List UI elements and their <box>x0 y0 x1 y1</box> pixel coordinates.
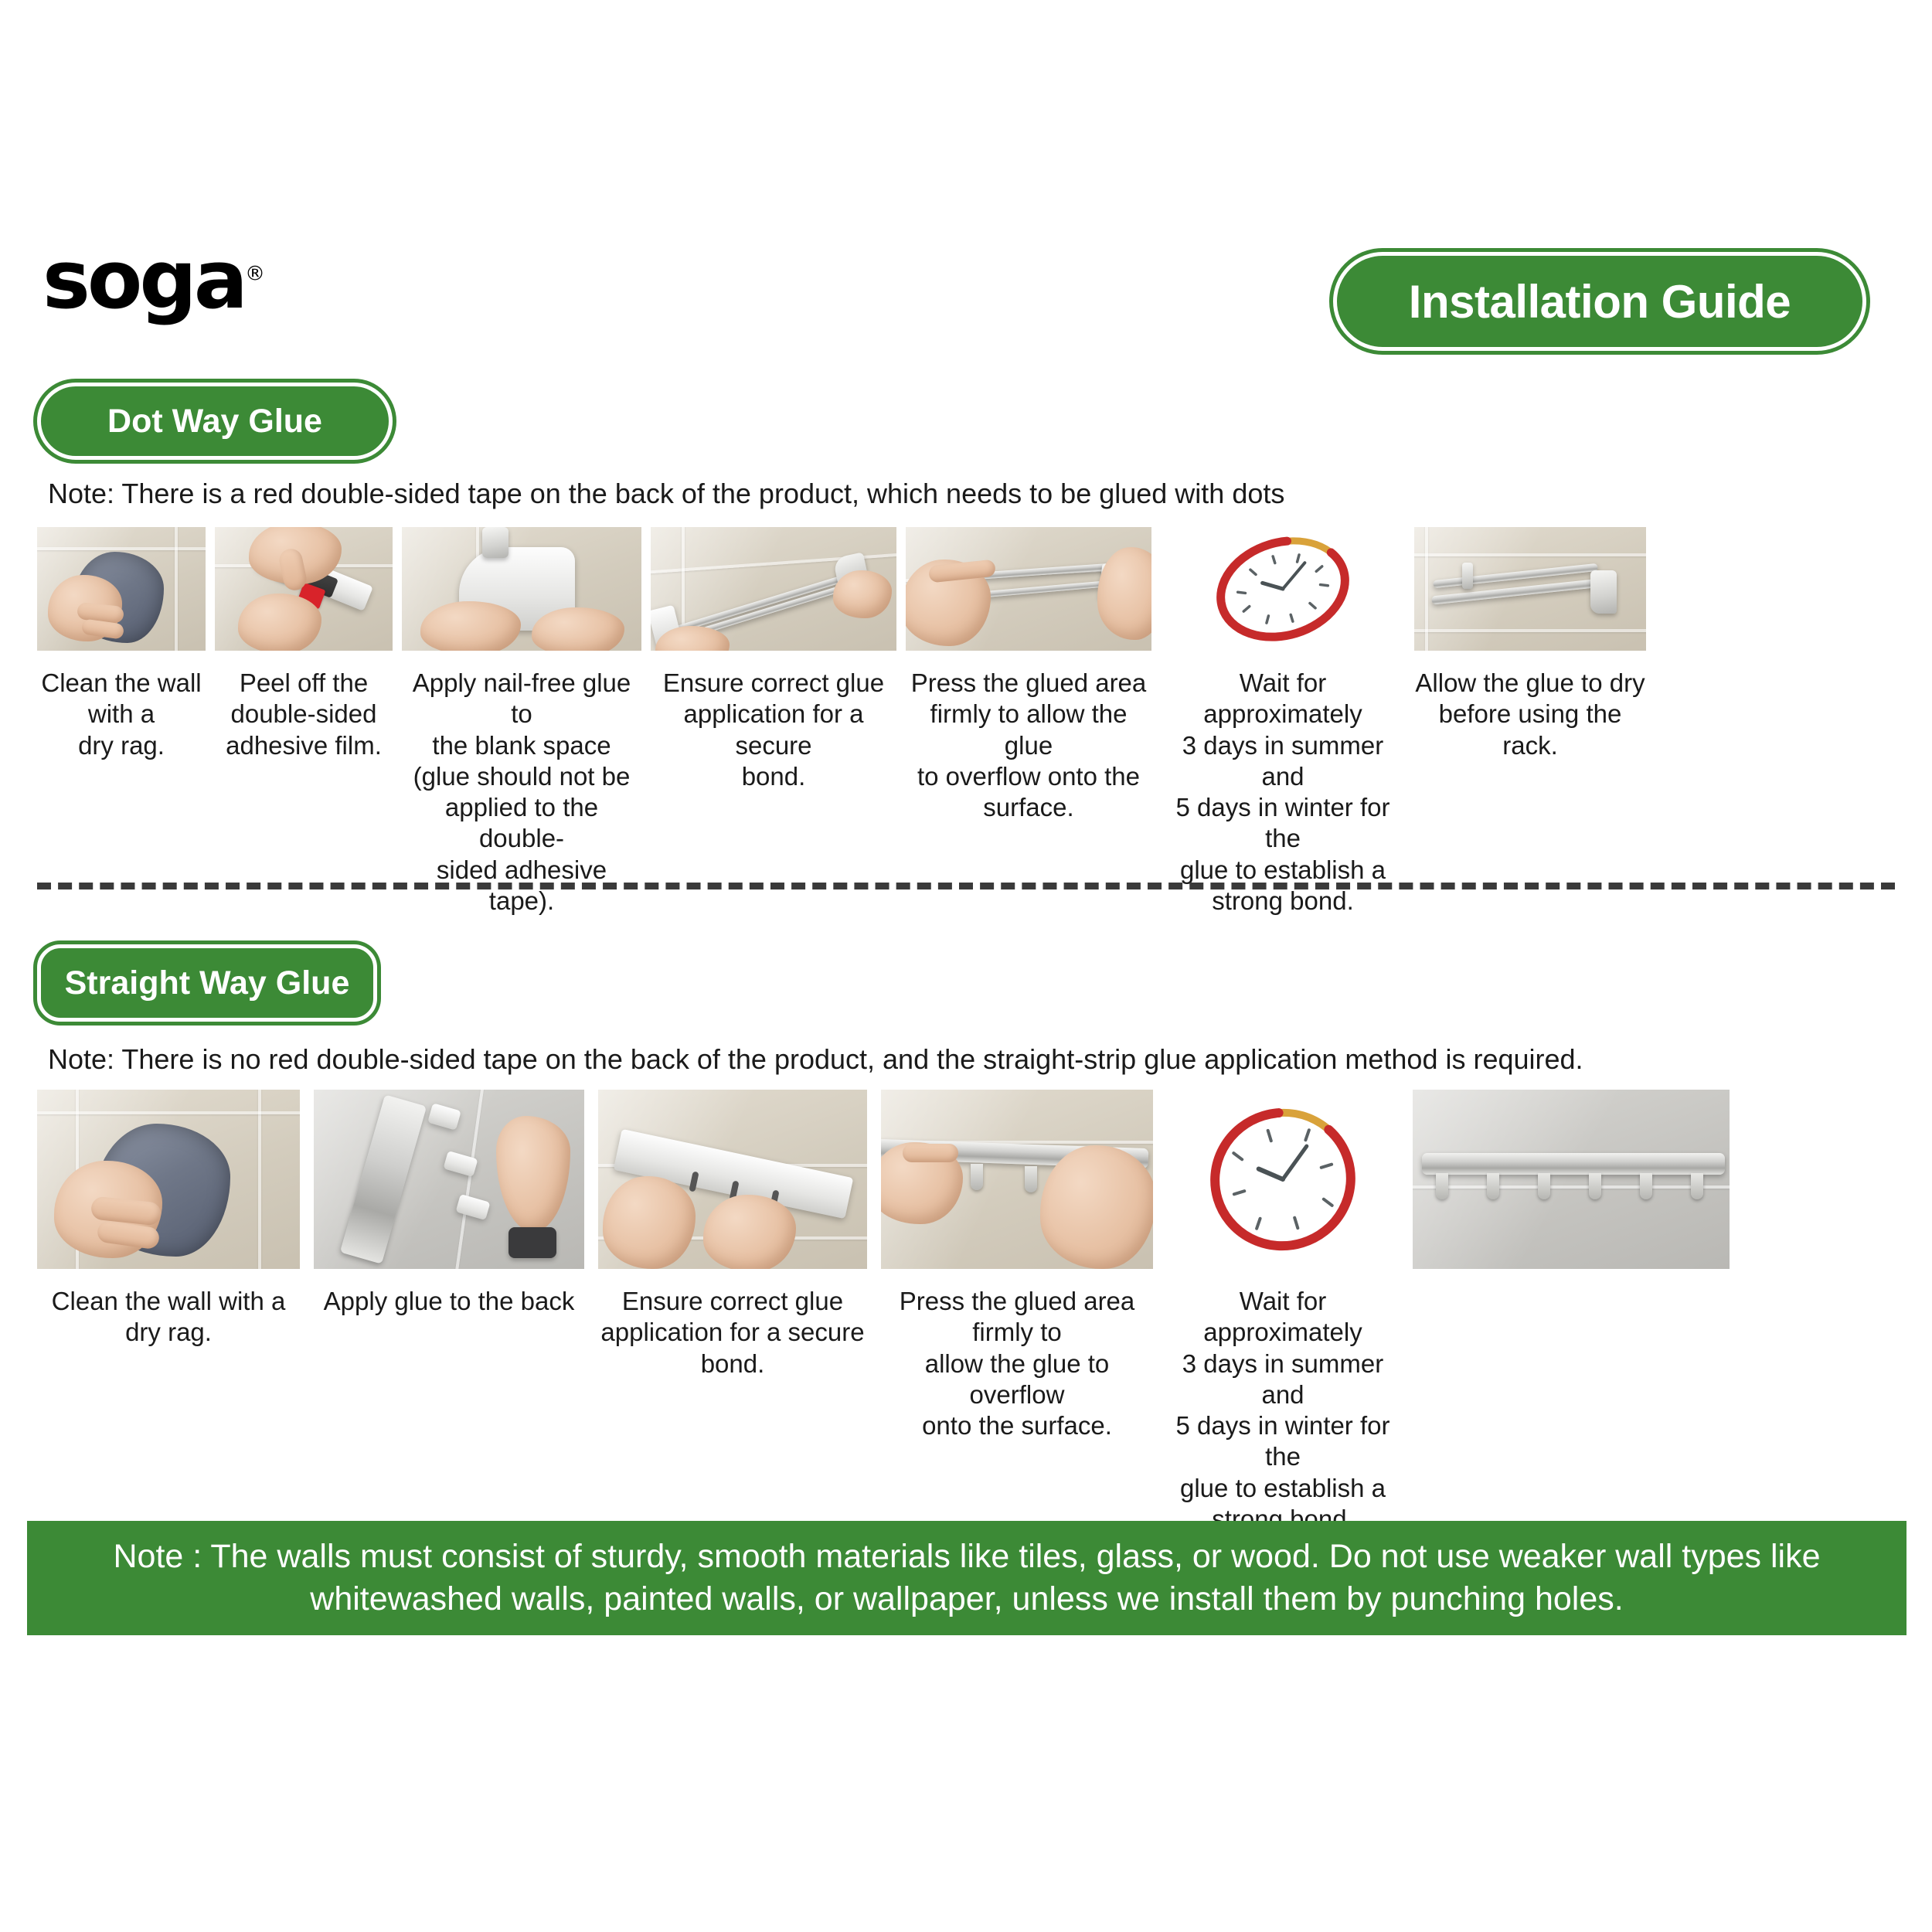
page-title: Installation Guide <box>1409 275 1791 328</box>
grout-line <box>1425 527 1428 651</box>
grout-line <box>175 527 178 651</box>
step-image-installed-rack <box>1414 527 1646 651</box>
hook-rail <box>1422 1153 1725 1175</box>
step-caption: Peel off the double-sided adhesive film. <box>215 668 393 761</box>
hand <box>703 1195 796 1269</box>
steps-row-straight-way-glue: Clean the wall with a dry rag. Apply glu… <box>37 1090 1590 1535</box>
hook <box>1487 1173 1499 1199</box>
footer-warning-banner: Note : The walls must consist of sturdy,… <box>27 1521 1906 1635</box>
step-item: Clean the wall with a dry rag. <box>37 1090 300 1349</box>
grout-line <box>37 547 206 550</box>
section-badge-label: Dot Way Glue <box>107 403 322 440</box>
section-badge-label: Straight Way Glue <box>65 964 350 1002</box>
grout-line <box>37 1111 300 1114</box>
clock-icon <box>1194 531 1372 647</box>
hand <box>532 607 624 651</box>
step-item: Allow the glue to dry before using the r… <box>1414 527 1646 761</box>
step-image-wait-clock <box>1161 527 1405 651</box>
step-item <box>1413 1090 1730 1286</box>
step-image-press-rack <box>906 527 1151 651</box>
hand <box>420 601 521 651</box>
step-image-clean-wall <box>37 1090 300 1269</box>
hand <box>603 1176 696 1269</box>
step-caption: Ensure correct glue application for a se… <box>600 1286 864 1379</box>
step-item: Clean the wall with a dry rag. <box>37 527 206 761</box>
grout-line <box>1414 553 1646 556</box>
tile-wall-background <box>1413 1090 1730 1269</box>
registered-trademark-icon: ® <box>245 262 265 285</box>
step-caption: Press the glued area firmly to allow the… <box>906 668 1151 823</box>
step-image-hold-rail <box>598 1090 867 1269</box>
step-image-installed-hook-rail <box>1413 1090 1730 1269</box>
section-note-dot-way-glue: Note: There is a red double-sided tape o… <box>48 478 1284 510</box>
footer-note-text: Note : The walls must consist of sturdy,… <box>58 1536 1876 1621</box>
step-caption: Allow the glue to dry before using the r… <box>1414 668 1646 761</box>
step-caption: Wait for approximately 3 days in summer … <box>1161 668 1405 917</box>
step-caption: Clean the wall with a dry rag. <box>37 668 206 761</box>
grout-line <box>1414 629 1646 632</box>
hook <box>1025 1166 1037 1192</box>
hook <box>1640 1173 1652 1199</box>
grout-line <box>258 1090 261 1269</box>
step-item: Press the glued area firmly to allow the… <box>906 527 1151 823</box>
step-item: Press the glued area firmly to allow the… <box>881 1090 1153 1441</box>
step-caption: Press the glued area firmly to allow the… <box>881 1286 1153 1441</box>
logo-wordmark: soga <box>43 233 245 327</box>
step-image-clean-wall <box>37 527 206 651</box>
step-caption: Apply glue to the back <box>324 1286 575 1317</box>
hook <box>1436 1173 1448 1199</box>
step-item: Wait for approximately 3 days in summer … <box>1167 1090 1399 1535</box>
glue-nozzle <box>482 527 509 558</box>
hook <box>1538 1173 1550 1199</box>
step-item: Ensure correct glue application for a se… <box>598 1090 867 1379</box>
clock-illustration <box>1167 1090 1399 1269</box>
grout-line <box>1413 1185 1730 1189</box>
step-item: Ensure correct glue application for a se… <box>651 527 896 792</box>
finger <box>903 1144 958 1162</box>
hand <box>833 570 892 618</box>
step-caption: Wait for approximately 3 days in summer … <box>1167 1286 1399 1535</box>
step-caption: Clean the wall with a dry rag. <box>52 1286 286 1349</box>
section-badge-dot-way-glue: Dot Way Glue <box>37 383 393 460</box>
step-image-apply-glue <box>402 527 641 651</box>
step-image-apply-glue-back <box>314 1090 584 1269</box>
steps-row-dot-way-glue: Clean the wall with a dry rag. Peel off … <box>37 527 1900 917</box>
step-item: Peel off the double-sided adhesive film. <box>215 527 393 761</box>
step-item: Apply nail-free glue to the blank space … <box>402 527 641 917</box>
hook <box>1589 1173 1601 1199</box>
step-caption: Apply nail-free glue to the blank space … <box>402 668 641 917</box>
step-image-peel-adhesive-film <box>215 527 393 651</box>
hand <box>238 594 321 651</box>
step-image-position-rack <box>651 527 896 651</box>
hook <box>971 1164 983 1190</box>
installation-guide-title-badge: Installation Guide <box>1333 252 1866 351</box>
installation-guide-page: soga® Installation Guide Dot Way Glue No… <box>0 0 1932 1932</box>
step-image-wait-clock <box>1167 1090 1399 1269</box>
clock-icon <box>1192 1096 1374 1263</box>
step-image-press-rail <box>881 1090 1153 1269</box>
step-item: Wait for approximately 3 days in summer … <box>1161 527 1405 917</box>
rack-bracket <box>1590 570 1617 614</box>
hook <box>1691 1173 1703 1199</box>
section-note-straight-way-glue: Note: There is no red double-sided tape … <box>48 1043 1583 1076</box>
step-item: Apply glue to the back <box>314 1090 584 1317</box>
rack-bracket <box>1462 563 1473 589</box>
section-badge-straight-way-glue: Straight Way Glue <box>37 944 377 1022</box>
wristwatch <box>509 1227 556 1258</box>
hand <box>1040 1145 1153 1269</box>
clock-illustration <box>1161 527 1405 651</box>
soga-logo: soga® <box>43 240 265 320</box>
section-divider <box>37 883 1895 889</box>
step-caption: Ensure correct glue application for a se… <box>651 668 896 792</box>
